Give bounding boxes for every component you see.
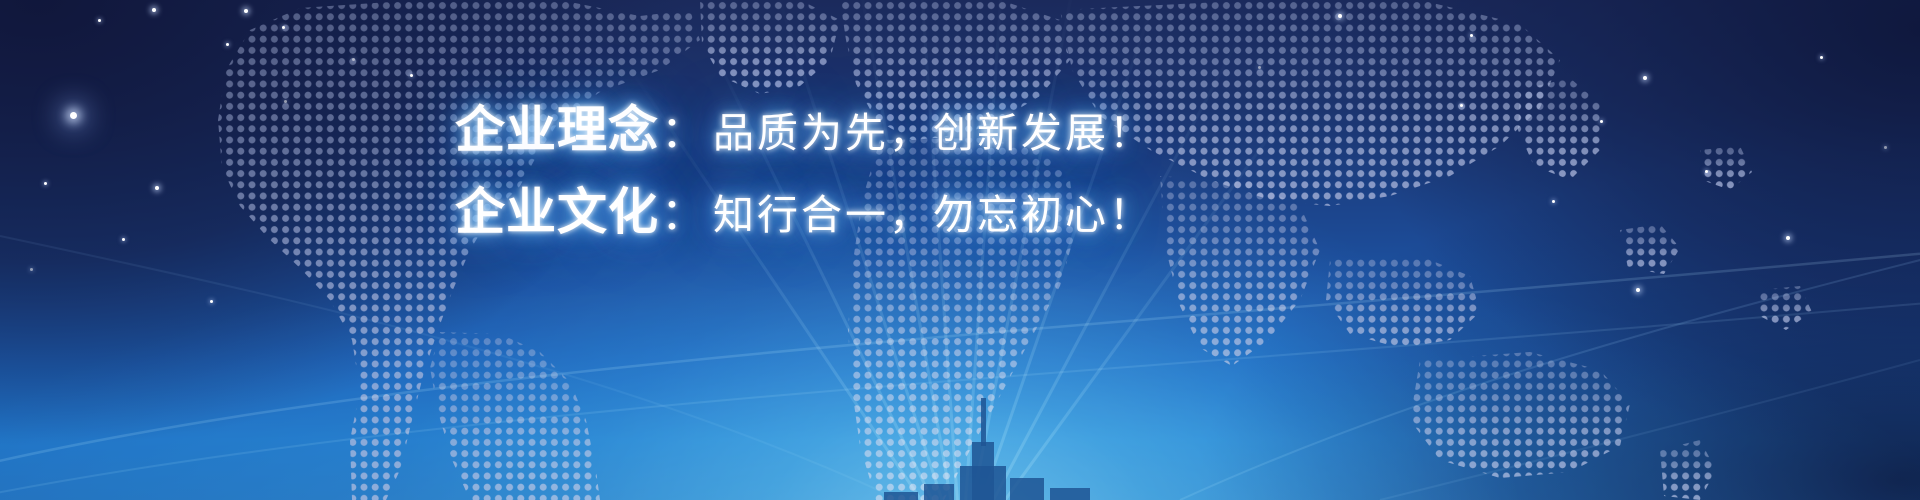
star — [244, 9, 248, 13]
star — [1884, 146, 1887, 149]
star — [1552, 200, 1555, 203]
city-skyline-silhouette — [0, 370, 1920, 500]
star — [1470, 34, 1473, 37]
star — [152, 8, 156, 12]
star — [98, 19, 101, 22]
star — [1820, 56, 1823, 59]
star — [1786, 236, 1790, 240]
slogan-text-block: 企业理念：品质为先，创新发展！ 企业文化：知行合一，勿忘初心！ — [455, 105, 1215, 237]
culture-label: 企业文化 — [455, 183, 659, 241]
company-philosophy-banner: 企业理念：品质为先，创新发展！ 企业文化：知行合一，勿忘初心！ — [0, 0, 1920, 500]
star — [1600, 120, 1603, 123]
star — [122, 238, 125, 241]
culture-value: 知行合一，勿忘初心！ — [713, 191, 1153, 239]
star — [284, 100, 287, 103]
star — [70, 112, 77, 119]
star — [44, 182, 47, 185]
culture-colon: ： — [659, 189, 707, 240]
star — [1643, 76, 1647, 80]
star — [1636, 288, 1640, 292]
philosophy-colon: ： — [659, 107, 707, 158]
star — [1705, 170, 1708, 173]
star — [155, 186, 159, 190]
star — [226, 43, 229, 46]
slogan-line-philosophy: 企业理念：品质为先，创新发展！ — [455, 105, 1215, 155]
star — [352, 58, 355, 61]
philosophy-label: 企业理念 — [455, 101, 659, 159]
star — [1258, 66, 1261, 69]
star — [410, 74, 413, 77]
star — [1460, 104, 1463, 107]
slogan-line-culture: 企业文化：知行合一，勿忘初心！ — [455, 187, 1215, 237]
star — [282, 26, 285, 29]
philosophy-value: 品质为先，创新发展！ — [713, 109, 1153, 157]
star — [210, 300, 213, 303]
star — [30, 268, 33, 271]
star — [1338, 14, 1342, 18]
